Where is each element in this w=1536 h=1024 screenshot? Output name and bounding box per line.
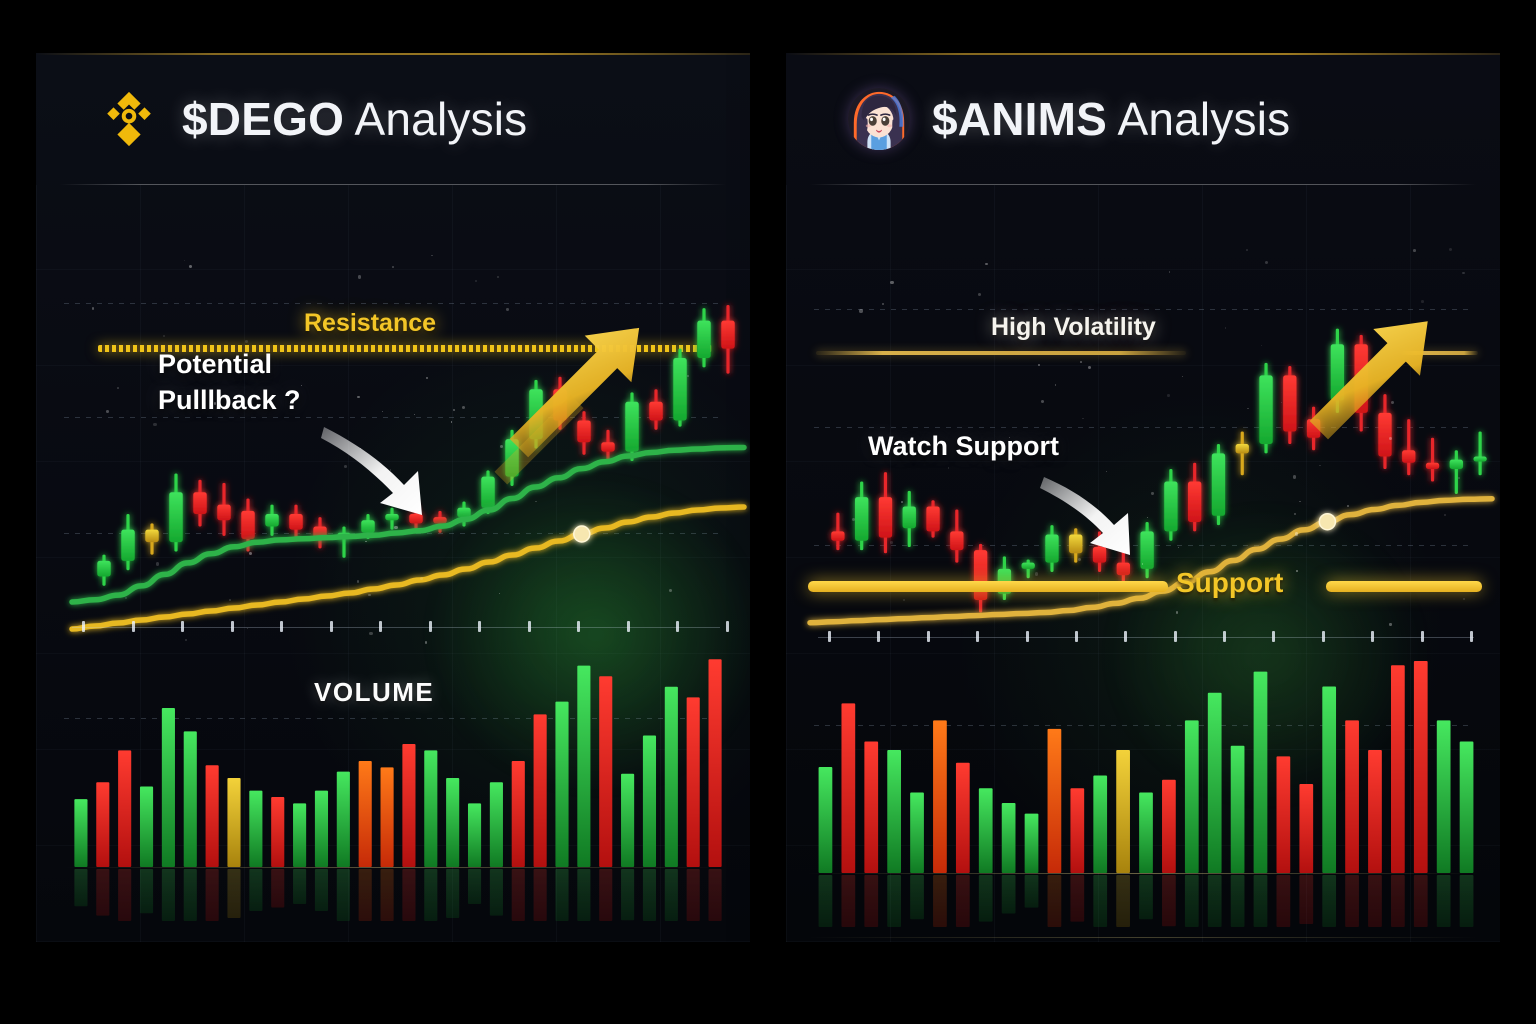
particle (153, 423, 156, 426)
volume-floor (808, 937, 1478, 938)
particle (462, 406, 465, 409)
particle (382, 411, 383, 412)
particle (117, 387, 119, 389)
particle (1294, 513, 1295, 514)
particle (125, 597, 126, 598)
particle (163, 335, 165, 337)
volume-baseline (62, 867, 724, 868)
avatar (848, 88, 910, 150)
particle (357, 580, 359, 582)
particle (247, 628, 248, 629)
header-dego: $DEGO Analysis (36, 53, 750, 185)
panel-anims: $ANIMS Analysis High Volatility (786, 53, 1500, 942)
particle (394, 526, 397, 529)
ticker-symbol: $DEGO (182, 93, 344, 145)
particle (245, 340, 248, 343)
particle (890, 281, 893, 284)
anime-avatar-icon (848, 88, 910, 150)
particle (453, 409, 455, 411)
panel-dego: $DEGO Analysis Resistance (36, 53, 750, 942)
particle (948, 467, 949, 468)
particle (903, 599, 905, 601)
chart-area-anims: High Volatility (786, 185, 1500, 942)
particle (1246, 249, 1248, 251)
particle (369, 632, 372, 635)
page-title: $DEGO Analysis (182, 92, 527, 146)
particle (1009, 437, 1010, 438)
particle (1151, 492, 1153, 494)
particle (497, 276, 499, 278)
particle (1293, 475, 1296, 478)
particle (852, 518, 855, 521)
particle (890, 541, 893, 544)
chart-area-dego: Resistance (36, 185, 750, 942)
particle (506, 308, 508, 310)
particle (978, 293, 981, 296)
particle (392, 266, 394, 268)
particle (1462, 272, 1464, 274)
particle (344, 465, 347, 468)
particle (1421, 300, 1424, 303)
particle (1265, 261, 1268, 264)
particle (1167, 394, 1170, 397)
particle (357, 396, 359, 398)
binance-diamond-icon (98, 88, 160, 150)
particle (1142, 563, 1143, 564)
particle (1463, 598, 1465, 600)
particle (1088, 366, 1091, 369)
screenshot-root: $DEGO Analysis Resistance (0, 0, 1536, 1024)
particle (360, 448, 361, 449)
particle (1078, 558, 1081, 561)
ticker-symbol: $ANIMS (932, 93, 1107, 145)
particle (1296, 570, 1297, 571)
particle (500, 445, 503, 448)
particle (1247, 408, 1248, 409)
particle (1080, 361, 1082, 363)
particle (882, 303, 883, 304)
volume-chart-dego (36, 185, 750, 942)
page-title: $ANIMS Analysis (932, 92, 1290, 146)
particle (901, 501, 903, 503)
particle (1281, 402, 1282, 403)
particle (106, 410, 109, 413)
particle (1176, 611, 1179, 614)
particle (229, 599, 231, 601)
particle (426, 377, 427, 378)
volume-baseline (808, 873, 1478, 874)
title-suffix: Analysis (1117, 93, 1290, 145)
particle (1295, 532, 1298, 535)
particle (1389, 623, 1391, 625)
header-anims: $ANIMS Analysis (786, 53, 1500, 185)
particle (358, 275, 362, 279)
particle (451, 421, 452, 422)
title-suffix: Analysis (355, 93, 528, 145)
particle (859, 309, 863, 313)
